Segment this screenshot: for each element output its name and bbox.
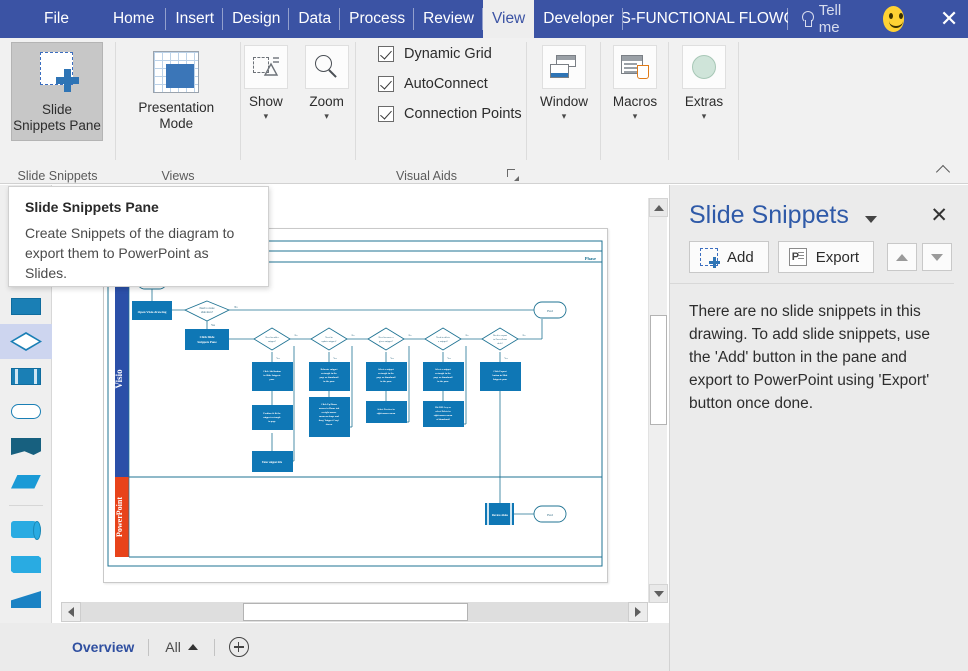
svg-text:update snippet?: update snippet? (322, 340, 337, 343)
svg-text:Yes: Yes (211, 324, 215, 327)
checkbox-autoconnect-label: AutoConnect (404, 76, 488, 92)
svg-text:Phase: Phase (585, 256, 596, 261)
svg-text:No: No (352, 334, 356, 337)
chevron-down-icon[interactable]: ▾ (633, 111, 638, 121)
chevron-down-icon[interactable] (865, 216, 877, 223)
scroll-down-arrow-icon[interactable] (649, 584, 668, 603)
tab-process-label: Process (349, 10, 405, 28)
svg-text:of thumbnail: of thumbnail (436, 418, 450, 421)
svg-text:Select a snippet: Select a snippet (435, 368, 451, 371)
ribbon-group-window: Window ▾ (527, 38, 601, 165)
pane-nav-buttons (887, 243, 954, 271)
add-snippet-icon (700, 248, 718, 266)
checkbox-dynamic-grid-label: Dynamic Grid (404, 46, 492, 62)
svg-text:button in Slide: button in Slide (492, 374, 507, 377)
svg-text:deck?: deck? (497, 342, 503, 345)
tab-design[interactable]: Design (223, 0, 289, 38)
tab-file[interactable]: File (0, 0, 87, 38)
tab-home[interactable]: Home (87, 0, 166, 38)
group-divider (240, 42, 241, 160)
tab-developer-label: Developer (543, 10, 614, 28)
checkbox-connection-points[interactable]: Connection Points (378, 106, 522, 122)
svg-text:Click Add button: Click Add button (263, 370, 281, 373)
ribbon-group-slide-snippets: Slide Snippets Pane Slide Snippets (0, 38, 116, 165)
svg-text:Select a snippet: Select a snippet (378, 368, 394, 371)
slide-snippet-add-icon (34, 51, 80, 95)
svg-text:Hit DEL key or: Hit DEL key or (435, 406, 452, 409)
presentation-mode-label-line2: Mode (159, 116, 193, 131)
svg-text:Snippets Pane: Snippets Pane (197, 340, 217, 344)
macros-icon (621, 55, 649, 79)
show-button[interactable]: Show ▾ (236, 44, 295, 122)
stencil-shape-card[interactable] (0, 547, 52, 582)
svg-text:rectangle in the: rectangle in the (321, 372, 337, 375)
cylinder-database-shape-icon (11, 521, 41, 538)
tab-review-label: Review (423, 10, 474, 28)
export-label: Export (816, 249, 859, 266)
slide-snippets-pane-label-line2: Snippets Pane (13, 118, 101, 133)
tab-view[interactable]: View (483, 0, 534, 38)
close-icon[interactable]: ✕ (930, 206, 952, 226)
svg-text:Need to create: Need to create (200, 307, 216, 310)
svg-text:in the pane: in the pane (323, 380, 334, 383)
scroll-up-arrow-icon[interactable] (649, 198, 668, 217)
svg-text:right mouse menu: right mouse menu (434, 414, 453, 417)
checkbox-autoconnect-box[interactable] (378, 76, 394, 92)
tab-insert-label: Insert (175, 10, 214, 28)
ribbon-group-label-visual-aids: Visual Aids (356, 169, 497, 183)
add-snippet-label: Add (727, 249, 754, 266)
svg-text:Yes: Yes (333, 357, 337, 360)
svg-text:PowerPoint: PowerPoint (115, 497, 124, 537)
vertical-scroll-thumb[interactable] (650, 315, 667, 425)
svg-text:Need to export: Need to export (493, 334, 508, 337)
svg-text:drag 'Snippet Crop': drag 'Snippet Crop' (319, 419, 340, 422)
lightbulb-icon (800, 11, 811, 28)
close-icon[interactable]: ✕ (930, 6, 968, 32)
predefined-process-shape-icon (11, 368, 41, 385)
scroll-right-arrow-icon[interactable] (628, 602, 648, 622)
ribbon: Slide Snippets Pane Slide Snippets Prese… (0, 38, 968, 184)
svg-text:Open Visio drawing: Open Visio drawing (138, 310, 167, 314)
svg-text:Select Preview in: Select Preview in (377, 408, 395, 411)
stencil-shape-rectangle[interactable] (0, 289, 52, 324)
svg-text:End: End (547, 513, 553, 517)
svg-text:rectangle in the: rectangle in the (435, 372, 451, 375)
svg-text:Need to: Need to (325, 336, 333, 339)
ribbon-group-label-slide-snippets: Slide Snippets (0, 169, 115, 183)
title-bar: File Home Insert Design Data Process Rev… (0, 0, 968, 38)
ribbon-group-macros: Macros ▾ (601, 38, 669, 165)
pane-empty-message: There are no slide snippets in this draw… (670, 284, 968, 415)
tab-cross-functional-flowchart-label: CROSS-FUNCTIONAL FLOWCHART (623, 10, 789, 28)
svg-text:End: End (547, 309, 553, 313)
tab-developer[interactable]: Developer (534, 0, 623, 38)
svg-text:No: No (466, 334, 470, 337)
slide-snippets-pane: Slide Snippets ✕ Add Export There are no… (669, 185, 968, 671)
slide-snippets-pane-label-line1: Slide (42, 102, 72, 117)
svg-text:Click Export: Click Export (493, 370, 506, 373)
svg-text:Enter snippet title: Enter snippet title (262, 461, 283, 464)
up-caret-icon (188, 644, 198, 650)
svg-text:given snippet?: given snippet? (379, 340, 393, 343)
visio-application-window: File Home Insert Design Data Process Rev… (0, 0, 968, 671)
svg-text:in the pane: in the pane (380, 380, 391, 383)
chevron-down-icon[interactable]: ▾ (264, 111, 269, 121)
svg-text:No: No (234, 306, 238, 309)
tab-divider (787, 8, 788, 30)
tab-insert[interactable]: Insert (166, 0, 223, 38)
checkbox-autoconnect[interactable]: AutoConnect (378, 76, 522, 92)
svg-text:snippet?: snippet? (268, 340, 276, 343)
stencil-shape-parallelogram[interactable] (0, 464, 52, 499)
svg-text:No: No (523, 334, 527, 337)
checkbox-connection-points-label: Connection Points (404, 106, 522, 122)
svg-text:right mouse menu: right mouse menu (377, 412, 396, 415)
rounded-terminator-shape-icon (11, 404, 41, 419)
tooltip-body: Create Snippets of the diagram to export… (25, 223, 252, 283)
magnifier-icon (315, 55, 339, 79)
stencil-shape-document[interactable] (0, 429, 52, 464)
stencil-shape-terminator[interactable] (0, 394, 52, 429)
svg-text:in page: in page (268, 420, 275, 423)
zoom-button[interactable]: Zoom ▾ (297, 44, 356, 122)
svg-text:page or thumbnail: page or thumbnail (320, 376, 339, 379)
canvas-horizontal-scrollbar[interactable] (61, 602, 648, 622)
slide-snippets-pane-button[interactable]: Slide Snippets Pane (11, 42, 103, 141)
page-tab-bar: Overview All (0, 623, 669, 671)
tell-me-label: Tell me (819, 2, 857, 36)
show-shapes-icon (253, 55, 279, 79)
stencil-shape-decision[interactable] (0, 324, 52, 359)
svg-text:Visio: Visio (114, 369, 124, 389)
tab-design-label: Design (232, 10, 280, 28)
svg-text:Click Slide: Click Slide (200, 335, 215, 339)
checkbox-dynamic-grid-box[interactable] (378, 46, 394, 62)
svg-text:rectangle in the: rectangle in the (378, 372, 394, 375)
tab-home-label: Home (113, 10, 154, 28)
svg-text:snippet rectangle: snippet rectangle (263, 416, 280, 419)
svg-text:Yes: Yes (447, 357, 451, 360)
scroll-left-arrow-icon[interactable] (61, 602, 81, 622)
page-tab-overview-label: Overview (72, 639, 134, 655)
window-button[interactable]: Window ▾ (529, 44, 599, 122)
svg-text:or right mouse: or right mouse (322, 411, 337, 414)
page-tab-divider (214, 639, 215, 656)
pane-toolbar: Add Export (670, 230, 954, 284)
card-shape-icon (11, 556, 41, 573)
ribbon-group-extras: Extras ▾ (669, 38, 739, 165)
show-label: Show (249, 94, 283, 109)
svg-text:pane: pane (270, 378, 275, 381)
tell-me-search[interactable]: Tell me (788, 2, 870, 36)
add-snippet-button[interactable]: Add (689, 241, 769, 273)
tab-data-label: Data (298, 10, 331, 28)
powerpoint-icon (789, 248, 807, 266)
svg-text:No: No (295, 334, 299, 337)
svg-text:Need to delete: Need to delete (436, 336, 450, 339)
svg-text:slide show?: slide show? (201, 311, 214, 314)
move-down-icon[interactable] (922, 243, 952, 271)
macros-label: Macros (613, 94, 657, 109)
svg-text:page or thumbnail: page or thumbnail (377, 376, 396, 379)
titlebar-right-group: Tell me ✕ (788, 0, 968, 38)
stencil-divider (9, 505, 43, 506)
svg-text:in Slide Snippets: in Slide Snippets (263, 374, 280, 377)
canvas-vertical-scrollbar[interactable] (648, 198, 667, 603)
stencil-shape-cylinder[interactable] (0, 512, 52, 547)
svg-text:Click Up/Down: Click Up/Down (321, 403, 337, 406)
move-up-icon[interactable] (887, 243, 917, 271)
page-tab-all[interactable]: All (149, 639, 214, 655)
extras-circle-icon (692, 55, 716, 79)
slide-snippets-pane-tooltip: Slide Snippets Pane Create Snippets of t… (8, 186, 269, 287)
pane-header: Slide Snippets ✕ (670, 185, 968, 230)
window-label: Window (540, 94, 588, 109)
svg-text:in the pane: in the pane (437, 380, 448, 383)
add-page-icon[interactable] (229, 637, 249, 657)
svg-text:Yes: Yes (390, 357, 394, 360)
tab-view-label: View (492, 10, 525, 28)
tooltip-title: Slide Snippets Pane (25, 199, 252, 215)
svg-text:Need to move a: Need to move a (378, 336, 394, 339)
presentation-mode-button[interactable]: Presentation Mode (130, 42, 222, 139)
ribbon-group-label-views: Views (116, 169, 240, 183)
ribbon-group-visual-aids: Dynamic Grid AutoConnect Connection Poin… (356, 38, 527, 165)
pane-title: Slide Snippets (689, 201, 849, 230)
ribbon-group-views: Presentation Mode (116, 38, 356, 165)
presentation-mode-icon (153, 51, 199, 93)
tab-file-label: File (44, 10, 69, 28)
svg-text:select Delete in: select Delete in (435, 410, 451, 413)
rectangle-shape-icon (11, 298, 41, 315)
checkbox-connection-points-box[interactable] (378, 106, 394, 122)
chevron-down-icon[interactable]: ▾ (324, 111, 329, 121)
tab-review[interactable]: Review (414, 0, 483, 38)
document-shape-icon (11, 438, 41, 455)
ribbon-groups: Slide Snippets Pane Slide Snippets Prese… (0, 38, 968, 165)
svg-text:Review slides: Review slides (492, 514, 509, 517)
svg-text:shown: shown (326, 423, 333, 426)
svg-text:arrows in Home tab: arrows in Home tab (319, 407, 340, 410)
svg-text:Relocate snippet: Relocate snippet (321, 368, 338, 371)
tab-cross-functional-flowchart[interactable]: CROSS-FUNCTIONAL FLOWCHART (623, 0, 789, 38)
dialog-launcher-icon[interactable] (507, 169, 519, 181)
page-tab-overview[interactable]: Overview (72, 639, 148, 655)
smiley-feedback-icon[interactable] (883, 6, 904, 32)
chevron-down-icon[interactable]: ▾ (562, 111, 567, 121)
svg-text:page or thumbnail: page or thumbnail (434, 376, 453, 379)
decision-diamond-shape-icon (10, 332, 42, 351)
svg-text:Position & fit the: Position & fit the (263, 412, 280, 415)
svg-text:No: No (409, 334, 413, 337)
tab-data[interactable]: Data (289, 0, 340, 38)
horizontal-scroll-thumb[interactable] (243, 603, 468, 621)
group-divider (738, 42, 739, 160)
visual-aids-checkbox-list: Dynamic Grid AutoConnect Connection Poin… (378, 46, 522, 136)
collapse-ribbon-icon[interactable] (932, 161, 954, 179)
page-tab-all-label: All (165, 639, 181, 655)
svg-text:menu on shape and: menu on shape and (319, 415, 339, 418)
svg-text:Yes: Yes (504, 357, 508, 360)
presentation-mode-label-line1: Presentation (138, 100, 214, 115)
svg-text:to PowerPoint: to PowerPoint (493, 338, 507, 341)
tab-process[interactable]: Process (340, 0, 414, 38)
checkbox-dynamic-grid[interactable]: Dynamic Grid (378, 46, 522, 62)
stencil-shape-predefined-process[interactable] (0, 359, 52, 394)
extras-button[interactable]: Extras ▾ (671, 44, 737, 122)
svg-text:a snippet?: a snippet? (438, 340, 448, 343)
window-arrange-icon (550, 55, 578, 79)
svg-text:Yes: Yes (276, 357, 280, 360)
export-button[interactable]: Export (778, 241, 874, 273)
svg-text:Need to add a: Need to add a (265, 336, 279, 339)
svg-text:Snippets pane: Snippets pane (493, 378, 507, 381)
parallelogram-data-shape-icon (11, 475, 41, 489)
stencil-shape-wedge[interactable] (0, 582, 52, 617)
zoom-label: Zoom (309, 94, 344, 109)
chevron-down-icon[interactable]: ▾ (702, 111, 707, 121)
wedge-shape-icon (11, 591, 41, 608)
macros-button[interactable]: Macros ▾ (603, 44, 667, 122)
extras-label: Extras (685, 94, 723, 109)
